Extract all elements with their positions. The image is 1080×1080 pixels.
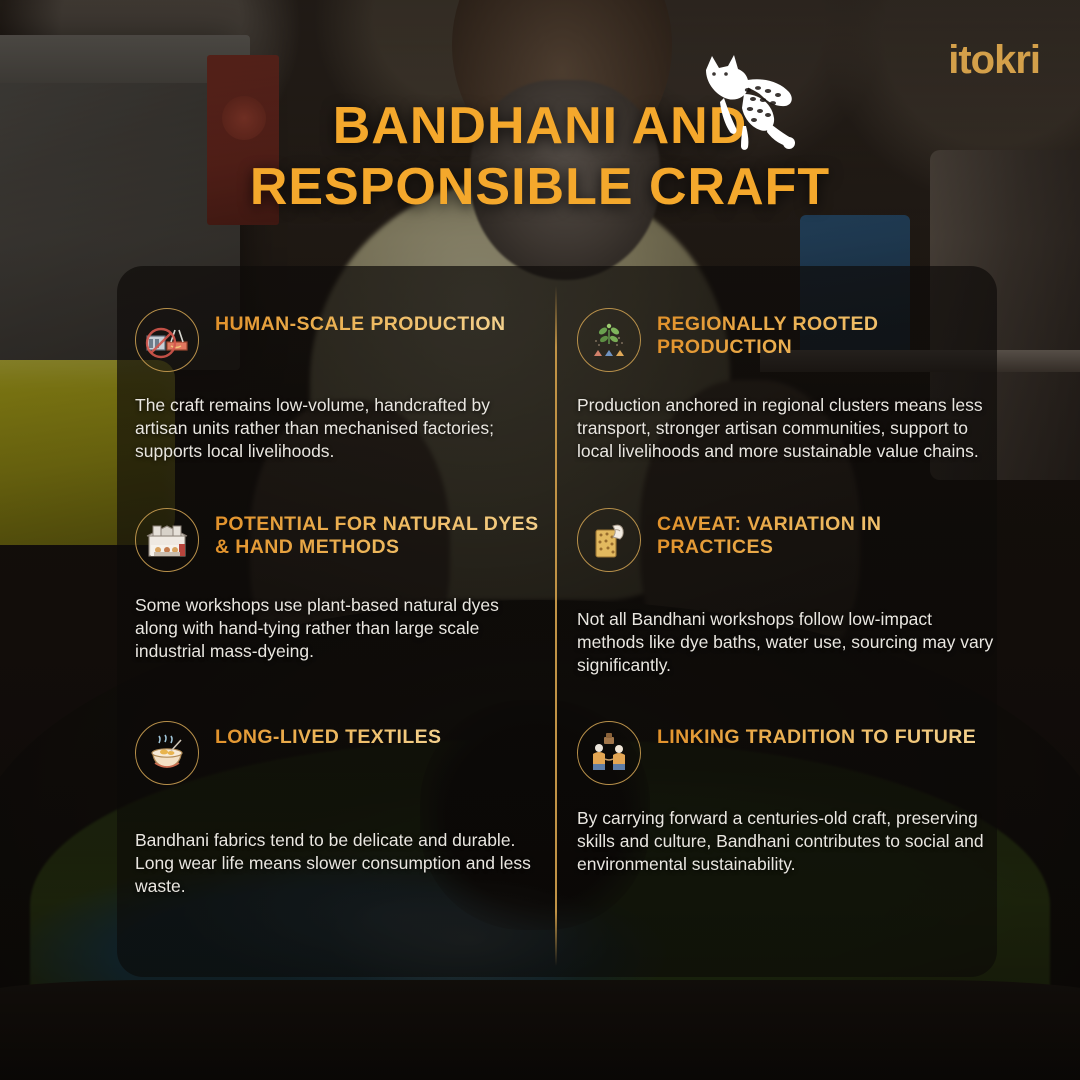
page-title: BANDHANI AND RESPONSIBLE CRAFT <box>0 96 1080 219</box>
seedling-plant-icon <box>577 308 641 372</box>
dye-pot-icon <box>135 721 199 785</box>
block-title: LINKING TRADITION TO FUTURE <box>657 726 976 749</box>
block-human-scale-production: HUMAN-SCALE PRODUCTION The craft remains… <box>135 308 555 462</box>
no-factory-icon <box>135 308 199 372</box>
block-linking-tradition-to-future: LINKING TRADITION TO FUTURE By carrying … <box>577 721 997 875</box>
block-title: POTENTIAL FOR NATURAL DYES & HAND METHOD… <box>215 513 555 559</box>
block-title: HUMAN-SCALE PRODUCTION <box>215 313 505 336</box>
block-title: LONG-LIVED TEXTILES <box>215 726 441 749</box>
block-title: CAVEAT: VARIATION IN PRACTICES <box>657 513 997 559</box>
page-title-line1: BANDHANI AND <box>0 96 1080 157</box>
block-body: Production anchored in regional clusters… <box>577 394 997 462</box>
block-caveat-variation-in-practices: CAVEAT: VARIATION IN PRACTICES Not all B… <box>577 508 997 676</box>
block-body: By carrying forward a centuries-old craf… <box>577 807 997 875</box>
two-artisans-icon <box>577 721 641 785</box>
block-body: Bandhani fabrics tend to be delicate and… <box>135 829 535 897</box>
block-body: Some workshops use plant-based natural d… <box>135 594 535 662</box>
content-card: HUMAN-SCALE PRODUCTION The craft remains… <box>117 266 997 977</box>
block-long-lived-textiles: LONG-LIVED TEXTILES Bandhani fabrics ten… <box>135 721 555 897</box>
block-natural-dyes-hand-methods: POTENTIAL FOR NATURAL DYES & HAND METHOD… <box>135 508 555 662</box>
column-divider <box>555 286 557 966</box>
page-title-line2: RESPONSIBLE CRAFT <box>0 157 1080 218</box>
block-title: REGIONALLY ROOTED PRODUCTION <box>657 313 997 359</box>
block-regionally-rooted-production: REGIONALLY ROOTED PRODUCTION Production … <box>577 308 997 462</box>
brand-logo[interactable]: itokri <box>948 40 1040 80</box>
hand-holding-fabric-icon <box>577 508 641 572</box>
leopard-cat-icon <box>688 52 803 157</box>
block-body: Not all Bandhani workshops follow low-im… <box>577 608 997 676</box>
block-body: The craft remains low-volume, handcrafte… <box>135 394 535 462</box>
workshop-building-icon <box>135 508 199 572</box>
